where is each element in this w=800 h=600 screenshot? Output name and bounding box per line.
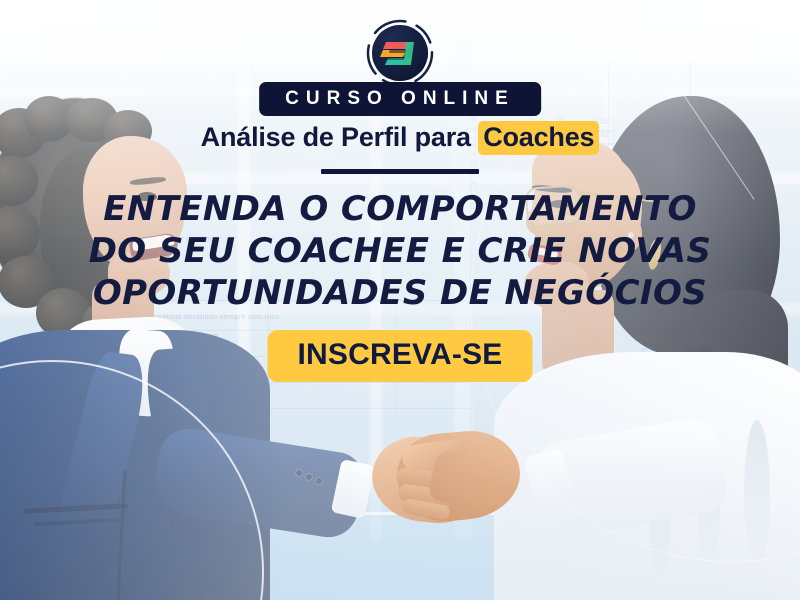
logo-monogram-icon: [372, 25, 428, 81]
subtitle-plain-text: Análise de Perfil para: [201, 122, 479, 152]
subtitle-highlight: Coaches: [478, 121, 599, 155]
signup-button[interactable]: INSCREVA-SE: [267, 330, 532, 382]
banner-subtitle: Análise de Perfil para Coaches: [0, 122, 800, 153]
headline-line-2: DO SEU COACHEE E CRIE NOVAS: [0, 230, 800, 272]
headline-line-3: OPORTUNIDADES DE NEGÓCIOS: [0, 272, 800, 314]
eyebrow-badge: CURSO ONLINE: [259, 82, 541, 116]
headline: ENTENDA O COMPORTAMENTO DO SEU COACHEE E…: [0, 188, 800, 314]
promotional-banner: preferindo exercer influência novos acon…: [0, 0, 800, 600]
subtitle-divider: [321, 169, 479, 174]
headline-line-1: ENTENDA O COMPORTAMENTO: [0, 188, 800, 230]
brand-logo: [365, 18, 435, 88]
banner-content: CURSO ONLINE Análise de Perfil para Coac…: [0, 0, 800, 600]
